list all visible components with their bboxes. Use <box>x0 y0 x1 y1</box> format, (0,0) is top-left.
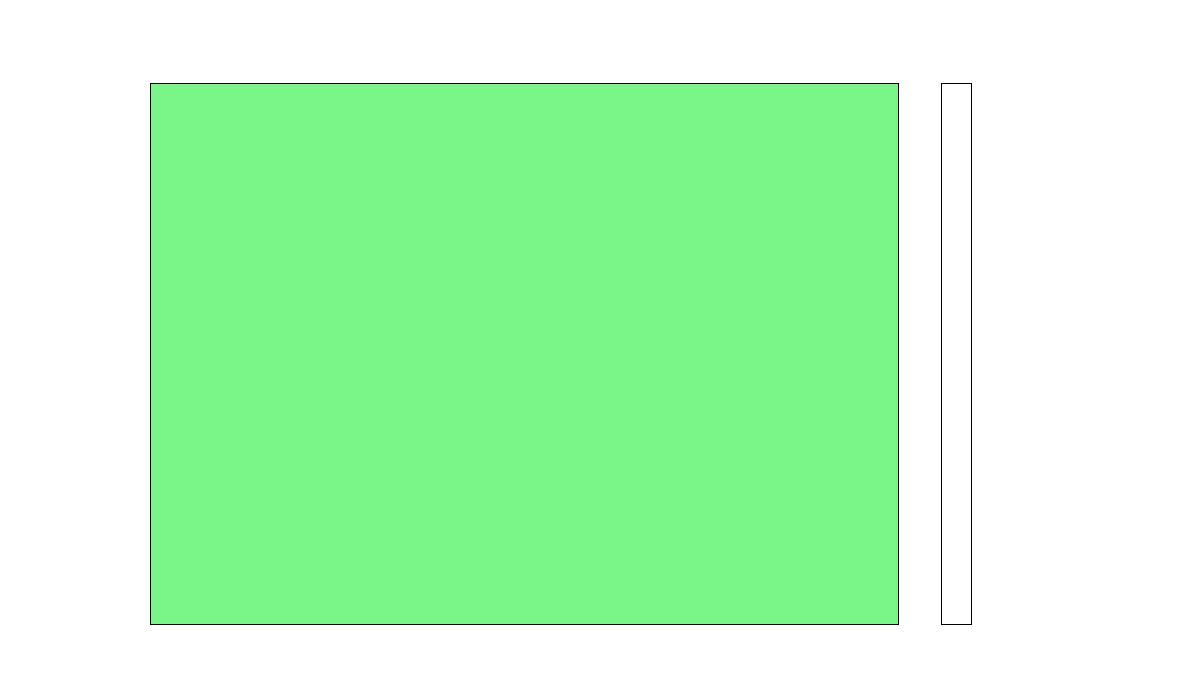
colorbar-gradient <box>942 84 971 624</box>
figure-canvas <box>0 0 1200 700</box>
heatmap-axes[interactable] <box>150 83 899 625</box>
field-heatmap-image <box>151 84 898 624</box>
colorbar[interactable] <box>941 83 972 625</box>
